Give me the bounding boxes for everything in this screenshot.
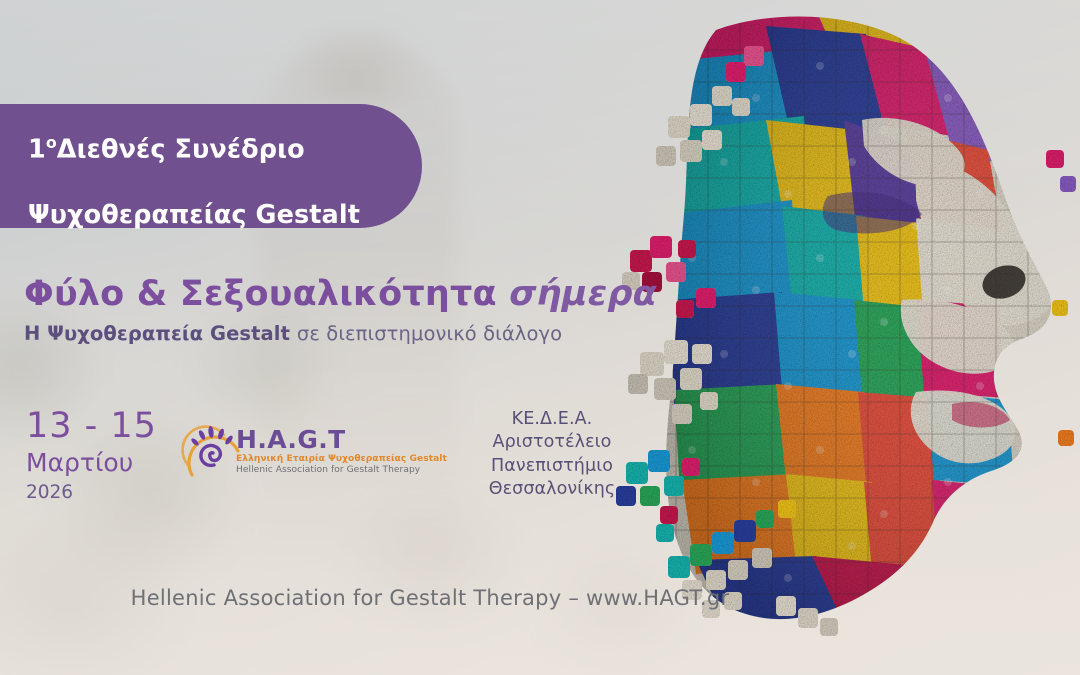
- date-day-range: 13 - 15: [26, 409, 157, 444]
- puzzle-face-artwork: [616, 0, 1080, 675]
- subtitle-bold: Η Ψυχοθεραπεία Gestalt: [24, 322, 297, 345]
- banner-line2-text: Ψυχοθεραπείας Gestalt: [28, 200, 360, 230]
- watermark-tower-top: [286, 14, 426, 104]
- banner-ordinal-number: 1: [28, 134, 46, 164]
- hagt-logo[interactable]: H.A.G.T Ελληνική Εταιρία Ψυχοθεραπείας G…: [180, 421, 442, 491]
- hagt-name-english: Hellenic Association for Gestalt Therapy: [236, 465, 447, 475]
- venue-line-2: Αριστοτέλειο: [464, 431, 640, 454]
- hagt-logo-text: H.A.G.T Ελληνική Εταιρία Ψυχοθεραπείας G…: [236, 427, 447, 476]
- hagt-acronym: H.A.G.T: [236, 427, 447, 452]
- theme-title-italic: σήμερα: [509, 274, 657, 314]
- conference-date: 13 - 15 Μαρτίου 2026: [26, 409, 157, 504]
- venue-line-4: Θεσσαλονίκης: [464, 478, 640, 501]
- date-year: 2026: [26, 482, 157, 504]
- date-month: Μαρτίου: [26, 448, 157, 479]
- subtitle-rest: σε διεπιστημονικό διάλογο: [297, 322, 562, 345]
- venue-line-1: ΚΕ.Δ.Ε.Α.: [464, 408, 640, 431]
- venue-block: ΚΕ.Δ.Ε.Α. Αριστοτέλειο Πανεπιστήμιο Θεσσ…: [464, 408, 640, 501]
- theme-title-bold: Φύλο & Σεξουαλικότητα: [24, 274, 509, 314]
- headline-block: Φύλο & Σεξουαλικότητα σήμερα Η Ψυχοθεραπ…: [24, 277, 657, 345]
- banner-title: 1οΔιεθνές Συνέδριο Ψυχοθεραπείας Gestalt: [28, 99, 360, 232]
- footer-organization-website: Hellenic Association for Gestalt Therapy…: [0, 586, 860, 610]
- conference-poster: 1οΔιεθνές Συνέδριο Ψυχοθεραπείας Gestalt…: [0, 0, 1080, 675]
- hagt-name-greek: Ελληνική Εταιρία Ψυχοθεραπείας Gestalt: [236, 454, 447, 464]
- conference-edition-banner: 1οΔιεθνές Συνέδριο Ψυχοθεραπείας Gestalt: [0, 104, 422, 228]
- conference-theme-subtitle: Η Ψυχοθεραπεία Gestalt σε διεπιστημονικό…: [24, 323, 657, 345]
- conference-theme-title: Φύλο & Σεξουαλικότητα σήμερα: [24, 277, 657, 312]
- banner-ordinal-suffix: ο: [46, 133, 57, 152]
- venue-line-3: Πανεπιστήμιο: [464, 455, 640, 478]
- banner-line1-text: Διεθνές Συνέδριο: [57, 134, 305, 164]
